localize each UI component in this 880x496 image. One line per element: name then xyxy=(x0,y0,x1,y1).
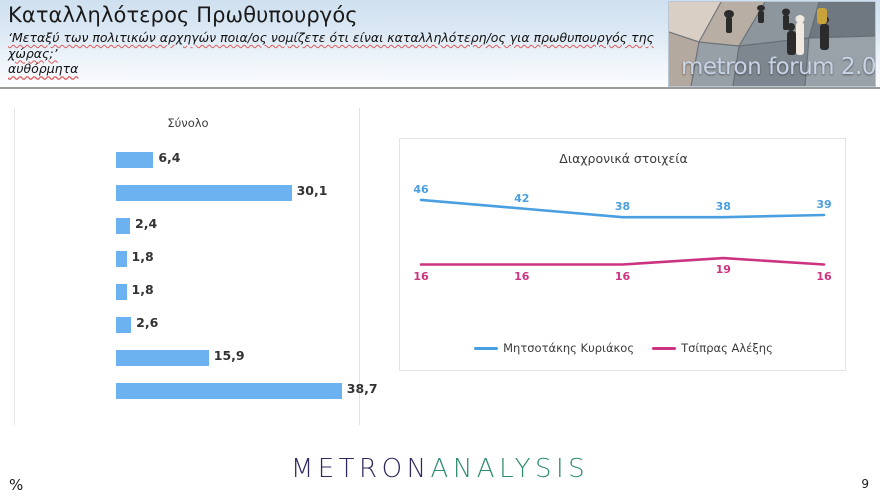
bar-row[interactable]: 15,9 xyxy=(116,346,361,379)
bar-row[interactable]: 1,8 xyxy=(116,280,361,313)
bar-value-label: 38,7 xyxy=(347,381,378,396)
bar-rect xyxy=(116,284,127,300)
bar-value-label: 2,6 xyxy=(136,315,158,330)
bar-value-label: 6,4 xyxy=(158,150,180,165)
bar-row[interactable]: 6,4 xyxy=(116,148,361,181)
bar-rect xyxy=(116,152,153,168)
legend-color-swatch xyxy=(652,347,676,350)
data-point-label: 38 xyxy=(615,200,630,213)
brand-metron: METRON xyxy=(291,454,431,484)
metron-analysis-logo: METRONANALYSIS xyxy=(0,454,880,484)
line-chart-plot xyxy=(400,139,845,370)
survey-question: ‘Μεταξύ των πολιτικών αρχηγών ποια/ος νο… xyxy=(8,30,658,61)
bar-row[interactable]: 30,1 xyxy=(116,181,361,214)
data-point-label: 16 xyxy=(816,270,831,283)
line-chart-panel: Διαχρονικά στοιχεία 46423838391616161916… xyxy=(399,138,846,371)
bar-rect xyxy=(116,218,130,234)
header-text-block: Καταλληλότερος Πρωθυπουργός ‘Μεταξύ των … xyxy=(8,2,668,76)
page-number: 9 xyxy=(861,477,869,491)
bar-value-label: 2,4 xyxy=(135,216,157,231)
data-point-label: 38 xyxy=(716,200,731,213)
data-point-label: 16 xyxy=(413,270,428,283)
series-line-tsipras xyxy=(421,258,824,264)
bar-row[interactable]: 2,6 xyxy=(116,313,361,346)
bar-rect xyxy=(116,317,131,333)
bar-value-label: 1,8 xyxy=(132,249,154,264)
data-point-label: 16 xyxy=(615,270,630,283)
survey-method-note: αυθόρμητα xyxy=(8,61,668,76)
data-point-label: 39 xyxy=(816,198,831,211)
bar-rect xyxy=(116,383,342,399)
bar-chart-title: Σύνολο xyxy=(15,116,361,130)
page-title: Καταλληλότερος Πρωθυπουργός xyxy=(8,2,668,28)
bar-value-label: 1,8 xyxy=(132,282,154,297)
bar-value-label: 30,1 xyxy=(297,183,328,198)
bar-row[interactable]: 1,8 xyxy=(116,247,361,280)
data-point-label: 46 xyxy=(413,183,428,196)
bar-rect xyxy=(116,350,209,366)
legend-label: Τσίπρας Αλέξης xyxy=(681,341,773,355)
legend-color-swatch xyxy=(474,347,498,350)
bar-rect xyxy=(116,185,292,201)
legend-item-mitsotakis[interactable]: Μητσοτάκης Κυριάκος xyxy=(474,341,634,355)
data-point-label: 42 xyxy=(514,192,529,205)
data-point-label: 19 xyxy=(716,263,731,276)
slide-header: Καταλληλότερος Πρωθυπουργός ‘Μεταξύ των … xyxy=(0,0,880,89)
bar-value-label: 15,9 xyxy=(214,348,245,363)
survey-question-text: ‘Μεταξύ των πολιτικών αρχηγών ποια/ος νο… xyxy=(8,30,654,61)
bar-row[interactable]: 38,7 xyxy=(116,379,361,412)
legend-label: Μητσοτάκης Κυριάκος xyxy=(503,341,634,355)
brand-analysis: ANALYSIS xyxy=(431,454,590,484)
forum-logo-text: metron forum 2.0 xyxy=(681,54,876,80)
bar-row[interactable]: 2,4 xyxy=(116,214,361,247)
bar-rect xyxy=(116,251,127,267)
data-point-label: 16 xyxy=(514,270,529,283)
bar-chart-panel: Σύνολο 6,4 30,1 2,4 1,8 1,8 2,6 15,9 xyxy=(14,108,360,425)
legend-item-tsipras[interactable]: Τσίπρας Αλέξης xyxy=(652,341,773,355)
bar-chart-bars: 6,4 30,1 2,4 1,8 1,8 2,6 15,9 38,7 xyxy=(116,148,361,412)
line-chart-legend: Μητσοτάκης Κυριάκος Τσίπρας Αλέξης xyxy=(400,341,847,355)
metron-forum-logo: metron forum 2.0 xyxy=(668,1,876,87)
